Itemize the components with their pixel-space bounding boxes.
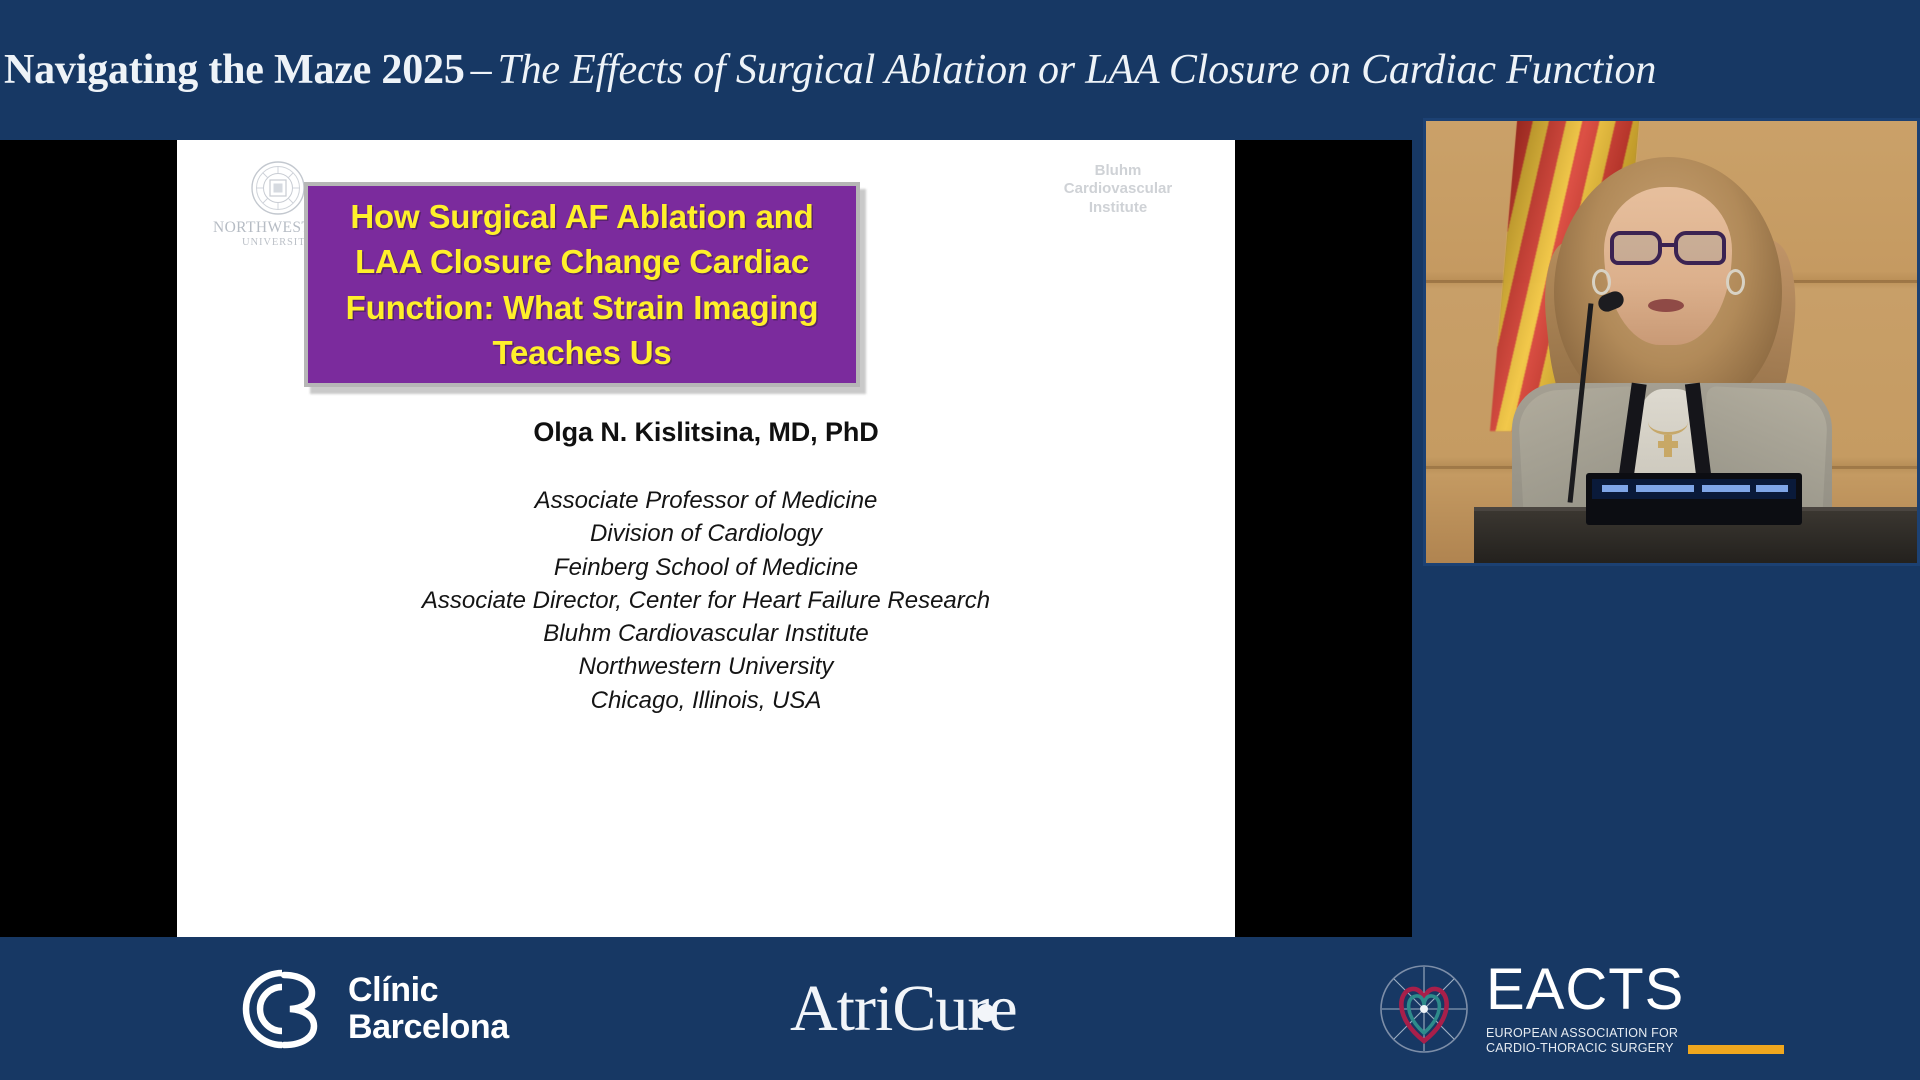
atricure-wordmark: AtriCure <box>790 976 1017 1042</box>
broadcast-stage: Navigating the Maze 2025–The Effects of … <box>0 0 1920 1080</box>
necklace-chain <box>1648 409 1688 435</box>
slide-letterbox[interactable]: NORTHWESTERN UNIVERSITY Bluhm Cardiovasc… <box>0 140 1412 937</box>
affiliation-line: Associate Professor of Medicine <box>177 487 1235 516</box>
monitor-text-pixels <box>1636 485 1694 492</box>
clinic-barcelona-wordmark: Clínic Barcelona <box>348 972 509 1044</box>
monitor-text-pixels <box>1702 485 1750 492</box>
clinic-line-2: Barcelona <box>348 1009 509 1045</box>
bluhm-line-2: Cardiovascular <box>1043 180 1193 198</box>
bluhm-line-3: Institute <box>1043 199 1193 217</box>
hoop-earring-left <box>1592 269 1611 295</box>
eyeglasses-right-lens <box>1674 231 1726 265</box>
monitor-text-pixels <box>1602 485 1628 492</box>
eacts-subtitle-row: EUROPEAN ASSOCIATION FOR CARDIO-THORACIC… <box>1486 1026 1784 1057</box>
speaker-video-feed[interactable] <box>1423 118 1920 566</box>
clinic-barcelona-mark-icon <box>240 963 332 1055</box>
cross-pendant-bar <box>1658 441 1678 448</box>
speaker-mouth <box>1648 299 1684 312</box>
affiliation-line: Division of Cardiology <box>177 520 1235 549</box>
eacts-wordmark: EACTS <box>1486 961 1784 1019</box>
speaker-face <box>1604 187 1732 345</box>
presenter-affiliations: Associate Professor of Medicine Division… <box>177 487 1235 720</box>
presentation-slide[interactable]: NORTHWESTERN UNIVERSITY Bluhm Cardiovasc… <box>177 140 1235 937</box>
atricure-logo[interactable]: AtriCure <box>790 937 1017 1080</box>
eacts-logo[interactable]: EACTS EUROPEAN ASSOCIATION FOR CARDIO-TH… <box>1378 937 1784 1080</box>
page-title: Navigating the Maze 2025–The Effects of … <box>0 48 1656 92</box>
sponsor-footer-bar: Clínic Barcelona AtriCure <box>0 937 1920 1080</box>
hoop-earring-right <box>1726 269 1745 295</box>
header-title-dash: – <box>465 47 498 93</box>
atricure-dot-icon <box>977 1004 995 1022</box>
affiliation-line: Associate Director, Center for Heart Fai… <box>177 587 1235 616</box>
affiliation-line: Northwestern University <box>177 653 1235 682</box>
affiliation-line: Feinberg School of Medicine <box>177 554 1235 583</box>
monitor-text-pixels <box>1756 485 1788 492</box>
eyeglasses-bridge <box>1662 243 1676 247</box>
eacts-subtitle-line-2: CARDIO-THORACIC SURGERY <box>1486 1041 1678 1056</box>
eacts-text-block: EACTS EUROPEAN ASSOCIATION FOR CARDIO-TH… <box>1486 961 1784 1057</box>
eacts-accent-bar <box>1688 1045 1784 1054</box>
slide-title-box: How Surgical AF Ablation and LAA Closure… <box>304 182 860 387</box>
media-band: NORTHWESTERN UNIVERSITY Bluhm Cardiovasc… <box>0 140 1920 937</box>
presenter-name: Olga N. Kislitsina, MD, PhD <box>177 417 1235 448</box>
affiliation-line: Bluhm Cardiovascular Institute <box>177 620 1235 649</box>
northwestern-seal-icon <box>250 160 306 216</box>
eyeglasses-left-lens <box>1610 231 1662 265</box>
clinic-line-1: Clínic <box>348 972 509 1008</box>
bluhm-line-1: Bluhm <box>1043 162 1193 180</box>
affiliation-line: Chicago, Illinois, USA <box>177 687 1235 716</box>
slide-title-box-wrapper: How Surgical AF Ablation and LAA Closure… <box>304 182 860 387</box>
clinic-barcelona-logo[interactable]: Clínic Barcelona <box>240 937 509 1080</box>
slide-title-text: How Surgical AF Ablation and LAA Closure… <box>308 194 856 375</box>
eacts-heart-emblem-icon <box>1378 963 1470 1055</box>
eacts-subtitle-line-1: EUROPEAN ASSOCIATION FOR <box>1486 1026 1678 1041</box>
header-title-bold: Navigating the Maze 2025 <box>4 47 465 93</box>
bluhm-cardiovascular-institute-label: Bluhm Cardiovascular Institute <box>1043 162 1193 217</box>
header-title-italic: The Effects of Surgical Ablation or LAA … <box>497 47 1656 93</box>
eacts-subtitle: EUROPEAN ASSOCIATION FOR CARDIO-THORACIC… <box>1486 1026 1678 1057</box>
